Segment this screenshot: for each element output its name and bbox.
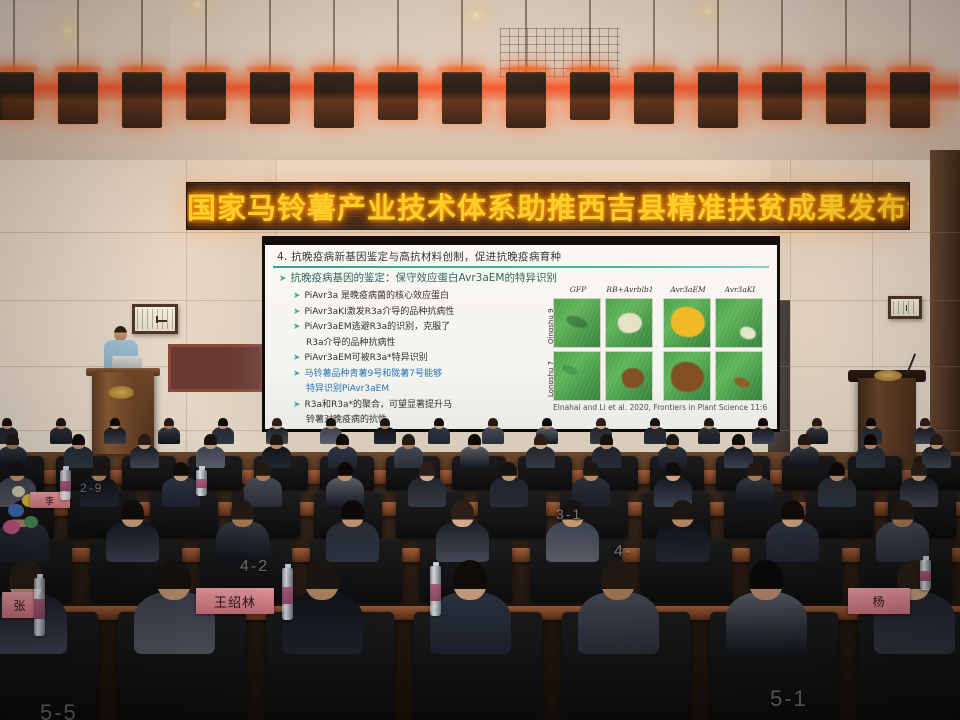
audience-head (891, 500, 913, 527)
flower-petal (8, 504, 24, 517)
flower-petal (24, 516, 38, 528)
audience-member (158, 418, 180, 446)
audience-head (829, 462, 845, 481)
stage-light-arm (909, 0, 911, 74)
audience-head (749, 560, 783, 600)
leaf-lesion (617, 311, 644, 334)
water-bottle (430, 566, 441, 616)
flower-petal (12, 486, 25, 497)
audience-head (121, 500, 143, 527)
figure-column-header: RB+Avrblb1 (605, 285, 655, 297)
audience-head (671, 500, 693, 527)
seat-number-label: 5-5 (40, 700, 78, 720)
bullet-arrow-icon: ➤ (293, 322, 301, 332)
stage-light-arm (717, 0, 719, 74)
audience-shoulders (326, 521, 379, 562)
audience-shoulders (818, 477, 856, 507)
figure-leaf-image (715, 298, 763, 348)
audience-member (856, 434, 885, 471)
bullet-arrow-icon: ➤ (293, 353, 301, 363)
figure-leaf-image (663, 351, 711, 401)
leaf-lesion (739, 325, 757, 341)
audience-head (864, 434, 876, 449)
bottle-label (282, 587, 293, 605)
stage-light-arm (525, 0, 527, 74)
audience-head (812, 418, 821, 429)
audience-head (231, 500, 253, 527)
audience-member (790, 434, 819, 471)
audience-member (752, 418, 774, 446)
audience-head (6, 434, 18, 449)
figure-leaf-image (663, 298, 711, 348)
audience-head (866, 418, 875, 429)
leaf-lesion (733, 376, 751, 390)
audience-shoulders (790, 446, 819, 468)
audience-member (876, 500, 929, 567)
audience-head (305, 560, 339, 600)
audience-head (204, 434, 216, 449)
audience-shoulders (436, 521, 489, 562)
audience-head (758, 418, 767, 429)
audience-head (110, 418, 119, 429)
flower-petal (3, 520, 20, 534)
water-bottle (196, 470, 207, 496)
audience-head (272, 418, 281, 429)
figure-column-header: Avr3aKI (715, 285, 765, 297)
slide-title: 4. 抗晚疫病新基因鉴定与高抗材料创制，促进抗晚疫病育种 (277, 249, 769, 264)
audience-head (930, 434, 942, 449)
audience-head (600, 434, 612, 449)
audience-head (666, 434, 678, 449)
audience-member (698, 418, 720, 446)
audience-head (173, 462, 189, 481)
table-name-card: 杨 (848, 588, 910, 614)
audience-head (798, 434, 810, 449)
clock-hour-hand (906, 305, 907, 311)
presentation-slide: 4. 抗晚疫病新基因鉴定与高抗材料创制，促进抗晚疫病育种 ➤抗晚疫病基因的鉴定：… (265, 245, 777, 429)
stage-light-arm (13, 0, 15, 74)
figure-column-header: GFP (553, 285, 603, 297)
conference-hall-photo: 国家马铃薯产业技术体系助推西吉县精准扶贫成果发布会 4. 抗晚疫病新基因鉴定与高… (0, 0, 960, 720)
leaf-lesion (670, 305, 707, 338)
audience-shoulders (104, 427, 126, 444)
audience-head (501, 462, 517, 481)
side-podium-emblem (874, 370, 902, 381)
audience-member (374, 418, 396, 446)
figure-leaf-image (553, 351, 601, 401)
figure-column-header: Avr3aEM (663, 285, 713, 297)
slide-sub-bullet-text: PiAvr3a 是晚疫病菌的核心效应蛋白 (305, 291, 450, 301)
stage-wall-red-panel (168, 344, 264, 392)
bottle-label (60, 481, 71, 491)
leaf-lesion (565, 314, 589, 330)
audience-head (9, 462, 25, 481)
ceiling-downlight (60, 22, 76, 38)
audience-head (326, 418, 335, 429)
wall-clock-right (888, 296, 922, 319)
bottle-label (920, 571, 931, 581)
bottle-label (196, 479, 207, 488)
leaf-lesion (670, 361, 705, 393)
audience-member (326, 500, 379, 567)
figure-leaf-image (605, 351, 653, 401)
audience-shoulders (460, 446, 489, 468)
audience-head (56, 418, 65, 429)
audience-head (91, 462, 107, 481)
audience-shoulders (216, 521, 269, 562)
seat-number-label: 2-9 (80, 481, 103, 495)
audience-head (2, 418, 11, 429)
audience-member (818, 462, 856, 511)
table-name-card: 王绍林 (196, 588, 274, 614)
led-banner-text: 国家马铃薯产业技术体系助推西吉县精准扶贫成果发布会 (187, 185, 909, 227)
audience-head (601, 560, 635, 600)
audience-head (451, 500, 473, 527)
seat-number-label: 4- (614, 543, 632, 561)
ceiling-downlight (468, 7, 484, 23)
audience-shoulders (656, 521, 709, 562)
audience-head (218, 418, 227, 429)
slide-sub-bullet: ➤PiAvr3aEM逃避R3a的识别，克服了 (293, 320, 543, 336)
audience-head (534, 434, 546, 449)
led-banner: 国家马铃薯产业技术体系助推西吉县精准扶贫成果发布会 (186, 182, 910, 230)
slide-sub-bullet-continuation: 特异识别PiAvr3aEM (293, 382, 543, 398)
slide-sub-bullet-text: PiAvr3aEM可被R3a*特异识别 (305, 353, 428, 363)
audience-head (337, 462, 353, 481)
figure-leaf-image (715, 351, 763, 401)
audience-head (157, 560, 191, 600)
audience-shoulders (876, 521, 929, 562)
bottle-label (34, 599, 45, 619)
audience-member (578, 560, 659, 662)
stage-light-arm (333, 0, 335, 74)
bullet-arrow-icon: ➤ (279, 274, 287, 284)
audience-head (596, 418, 605, 429)
audience-member (104, 418, 126, 446)
audience-shoulders (106, 521, 159, 562)
leaf-lesion (561, 363, 579, 377)
slide-sub-bullet: ➤马铃薯品种青薯9号和陇薯7号能够 (293, 367, 543, 383)
audience-head (781, 500, 803, 527)
audience-shoulders (430, 592, 511, 654)
audience-head (650, 418, 659, 429)
water-bottle (60, 470, 71, 500)
stage-light-arm (77, 0, 79, 74)
audience-head (542, 418, 551, 429)
audience-head (453, 560, 487, 600)
bullet-arrow-icon: ➤ (293, 400, 301, 410)
audience-member (726, 560, 807, 662)
audience-member (106, 500, 159, 567)
audience-member (162, 462, 200, 511)
audience-head (270, 434, 282, 449)
figure-leaf-image (553, 298, 601, 348)
presenter-head (114, 326, 127, 341)
slide-sub-bullet-list: ➤PiAvr3a 是晚疫病菌的核心效应蛋白➤PiAvr3aKI激发R3a介导的品… (293, 289, 543, 429)
ceiling-downlight (700, 2, 716, 18)
audience-shoulders (130, 446, 159, 468)
audience-head (341, 500, 363, 527)
audience-member (282, 560, 363, 662)
bottle-label (430, 584, 441, 601)
audience-head (747, 462, 763, 481)
water-bottle (920, 560, 931, 590)
clock-minute-hand (156, 320, 167, 322)
audience-shoulders (162, 477, 200, 507)
audience-head (138, 434, 150, 449)
audience-member (656, 500, 709, 567)
audience-member (490, 462, 528, 511)
table-name-card: 张 (2, 592, 38, 618)
wall-seam (0, 232, 960, 233)
audience-member (460, 434, 489, 471)
stage-light-arm (141, 0, 143, 74)
audience-member (436, 500, 489, 567)
audience-shoulders (526, 446, 555, 468)
bullet-arrow-icon: ➤ (293, 307, 301, 317)
stage-light-arm (461, 0, 463, 74)
audience-head (164, 418, 173, 429)
audience-head (468, 434, 480, 449)
stage-light-arm (205, 0, 207, 74)
audience-head (911, 462, 927, 481)
slide-sub-bullet: ➤PiAvr3a 是晚疫病菌的核心效应蛋白 (293, 289, 543, 305)
audience-head (920, 418, 929, 429)
stage-light-arm (845, 0, 847, 74)
audience-shoulders (856, 446, 885, 468)
audience-shoulders (282, 592, 363, 654)
slide-main-bullet: ➤抗晚疫病基因的鉴定：保守效应蛋白Avr3aEM的特异识别 (279, 270, 769, 285)
audience-head (665, 462, 681, 481)
stage-light-arm (269, 0, 271, 74)
audience-head (380, 418, 389, 429)
audience-member (430, 560, 511, 662)
audience-member (428, 418, 450, 446)
audience-shoulders (490, 477, 528, 507)
audience-shoulders (726, 592, 807, 654)
audience-head (419, 462, 435, 481)
slide-sub-bullet-text: 马铃薯品种青薯9号和陇薯7号能够 (305, 369, 442, 379)
audience-shoulders (158, 427, 180, 444)
audience-head (255, 462, 271, 481)
audience-shoulders (578, 592, 659, 654)
audience-member (766, 500, 819, 567)
audience-member (130, 434, 159, 471)
audience-shoulders (428, 427, 450, 444)
bullet-arrow-icon: ➤ (293, 291, 301, 301)
seat-number-label: 3-1 (556, 506, 582, 522)
stage-light-arm (781, 0, 783, 74)
seat-number-label: 5-1 (770, 686, 808, 712)
audience-head (434, 418, 443, 429)
audience-head (583, 462, 599, 481)
slide-figure: GFPRB+Avrblb1Avr3aEMAvr3aKI Qingshu 9Lon… (551, 285, 769, 415)
audience-head (488, 418, 497, 429)
seat-number-label: 4-2 (240, 558, 269, 576)
audience-shoulders (698, 427, 720, 444)
stage-light-arm (653, 0, 655, 74)
audience-head (732, 434, 744, 449)
slide-sub-bullet: ➤R3a和R3a*的聚合，可望显著提升马 (293, 398, 543, 414)
audience-member (526, 434, 555, 471)
slide-sub-bullet-text: PiAvr3aEM逃避R3a的识别，克服了 (305, 322, 451, 332)
figure-citation: Elnahal and Li et al. 2020, Frontiers in… (553, 403, 773, 413)
audience-shoulders (752, 427, 774, 444)
clock-face (893, 301, 917, 314)
slide-sub-bullet-text: R3a和R3a*的聚合，可望显著提升马 (305, 400, 453, 410)
slide-main-bullet-text: 抗晚疫病基因的鉴定：保守效应蛋白Avr3aEM的特异识别 (291, 272, 557, 284)
stage-light-arm (589, 0, 591, 74)
podium-emblem (108, 386, 134, 399)
audience-shoulders (766, 521, 819, 562)
audience-head (402, 434, 414, 449)
slide-title-rule (273, 266, 769, 268)
audience-head (72, 434, 84, 449)
leaf-lesion (620, 366, 646, 390)
audience-head (336, 434, 348, 449)
audience-head (704, 418, 713, 429)
stage-light-arm (397, 0, 399, 74)
clock-face (137, 309, 173, 329)
slide-sub-bullet-continuation: R3a介导的品种抗病性 (293, 336, 543, 352)
slide-sub-bullet: ➤PiAvr3aKI激发R3a介导的品种抗病性 (293, 305, 543, 321)
slide-sub-bullet: ➤PiAvr3aEM可被R3a*特异识别 (293, 351, 543, 367)
wall-clock-left (132, 304, 178, 334)
water-bottle (34, 578, 45, 636)
audience-shoulders (374, 427, 396, 444)
water-bottle (282, 568, 293, 620)
audience-shoulders (546, 521, 599, 562)
slide-sub-bullet-text: PiAvr3aKI激发R3a介导的品种抗病性 (305, 307, 455, 317)
bullet-arrow-icon: ➤ (293, 369, 301, 379)
figure-leaf-image (605, 298, 653, 348)
